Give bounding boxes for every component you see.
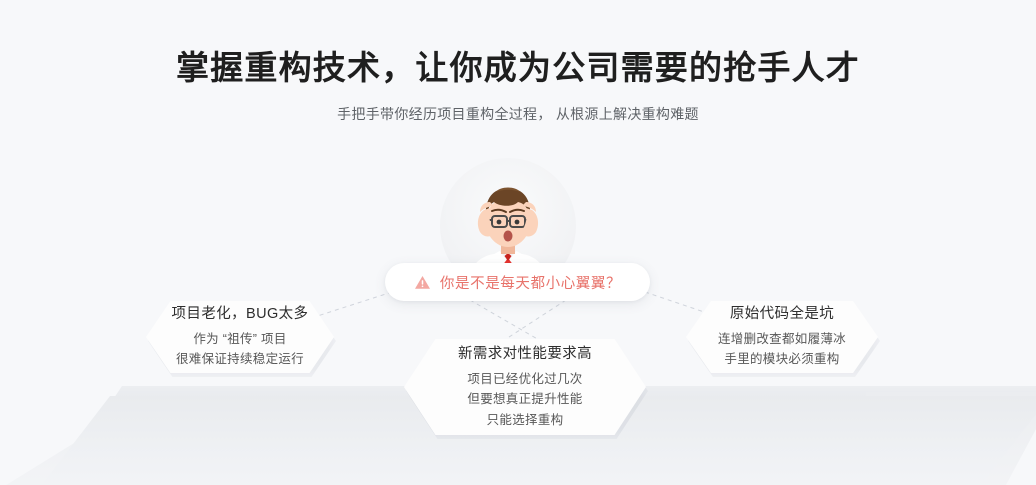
hero-section: 掌握重构技术，让你成为公司需要的抢手人才 手把手带你经历项目重构全过程， 从根源… (0, 0, 1036, 485)
pain-point-line: 很难保证持续稳定运行 (176, 349, 304, 369)
page-subtitle: 手把手带你经历项目重构全过程， 从根源上解决重构难题 (0, 104, 1036, 125)
warning-triangle-icon (414, 275, 431, 290)
background-band-left-wing (0, 396, 200, 485)
alert-badge-text: 你是不是每天都小心翼翼？ (440, 272, 621, 293)
pain-point-title: 原始代码全是坑 (730, 304, 834, 326)
page-title: 掌握重构技术，让你成为公司需要的抢手人才 (0, 46, 1036, 90)
alert-badge[interactable]: 你是不是每天都小心翼翼？ (385, 263, 650, 301)
pain-point-line: 项目已经优化过几次 (467, 369, 582, 389)
pain-point-line: 连增删改查都如履薄冰 (718, 329, 846, 349)
header: 掌握重构技术，让你成为公司需要的抢手人才 手把手带你经历项目重构全过程， 从根源… (0, 0, 1036, 125)
pain-point-line: 但要想真正提升性能 (467, 389, 582, 409)
pain-point-card-performance-demand[interactable]: 新需求对性能要求高 项目已经优化过几次 但要想真正提升性能 只能选择重构 (404, 339, 646, 435)
pain-point-line: 作为 “祖传” 项目 (193, 329, 286, 349)
pain-point-title: 项目老化，BUG太多 (172, 304, 309, 326)
pain-point-card-aging-project[interactable]: 项目老化，BUG太多 作为 “祖传” 项目 很难保证持续稳定运行 (146, 301, 334, 373)
background-band-right-wing (866, 392, 1036, 485)
pain-point-line: 只能选择重构 (487, 410, 564, 430)
pain-point-card-legacy-code-pitfalls[interactable]: 原始代码全是坑 连增删改查都如履薄冰 手里的模块必须重构 (686, 301, 878, 373)
pain-point-line: 手里的模块必须重构 (724, 349, 839, 369)
pain-point-title: 新需求对性能要求高 (458, 344, 592, 366)
illustration-container (440, 158, 576, 264)
